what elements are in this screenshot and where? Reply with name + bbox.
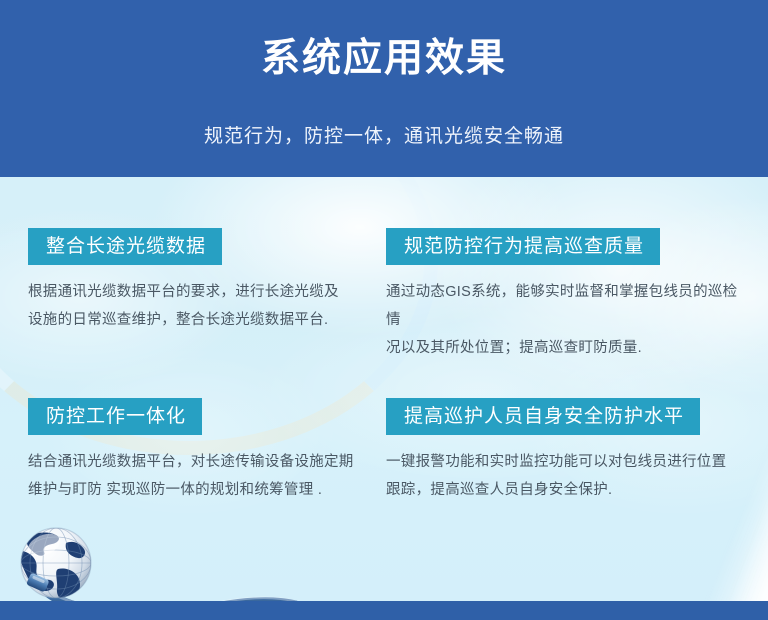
- header-banner: 系统应用效果 规范行为，防控一体，通讯光缆安全畅通: [0, 0, 768, 177]
- feature-card-description: 根据通讯光缆数据平台的要求，进行长途光缆及 设施的日常巡查维护，整合长途光缆数据…: [28, 278, 358, 334]
- feature-card-description: 一键报警功能和实时监控功能可以对包线员进行位置 跟踪，提高巡查人员自身安全保护.: [386, 448, 741, 504]
- feature-card: 提高巡护人员自身安全防护水平 一键报警功能和实时监控功能可以对包线员进行位置 跟…: [386, 398, 741, 504]
- feature-card-badge: 防控工作一体化: [28, 398, 202, 435]
- feature-card-description: 结合通讯光缆数据平台，对长途传输设备设施定期 维护与盯防 实现巡防一体的规划和统…: [28, 448, 358, 504]
- feature-card: 规范防控行为提高巡查质量 通过动态GIS系统，能够实时监督和掌握包线员的巡检情 …: [386, 228, 741, 362]
- feature-card-grid: 整合长途光缆数据 根据通讯光缆数据平台的要求，进行长途光缆及 设施的日常巡查维护…: [0, 177, 768, 601]
- feature-card: 防控工作一体化 结合通讯光缆数据平台，对长途传输设备设施定期 维护与盯防 实现巡…: [28, 398, 358, 504]
- feature-card-badge: 规范防控行为提高巡查质量: [386, 228, 660, 265]
- footer-bar: [0, 601, 768, 620]
- feature-card-badge: 整合长途光缆数据: [28, 228, 222, 265]
- feature-card-description: 通过动态GIS系统，能够实时监督和掌握包线员的巡检情 况以及其所处位置；提高巡查…: [386, 278, 741, 362]
- feature-card: 整合长途光缆数据 根据通讯光缆数据平台的要求，进行长途光缆及 设施的日常巡查维护…: [28, 228, 358, 334]
- page-subtitle: 规范行为，防控一体，通讯光缆安全畅通: [0, 123, 768, 151]
- poster-root: 系统应用效果 规范行为，防控一体，通讯光缆安全畅通 整合长途光缆数据 根据通讯光…: [0, 0, 768, 620]
- feature-card-badge: 提高巡护人员自身安全防护水平: [386, 398, 700, 435]
- page-title: 系统应用效果: [0, 33, 768, 85]
